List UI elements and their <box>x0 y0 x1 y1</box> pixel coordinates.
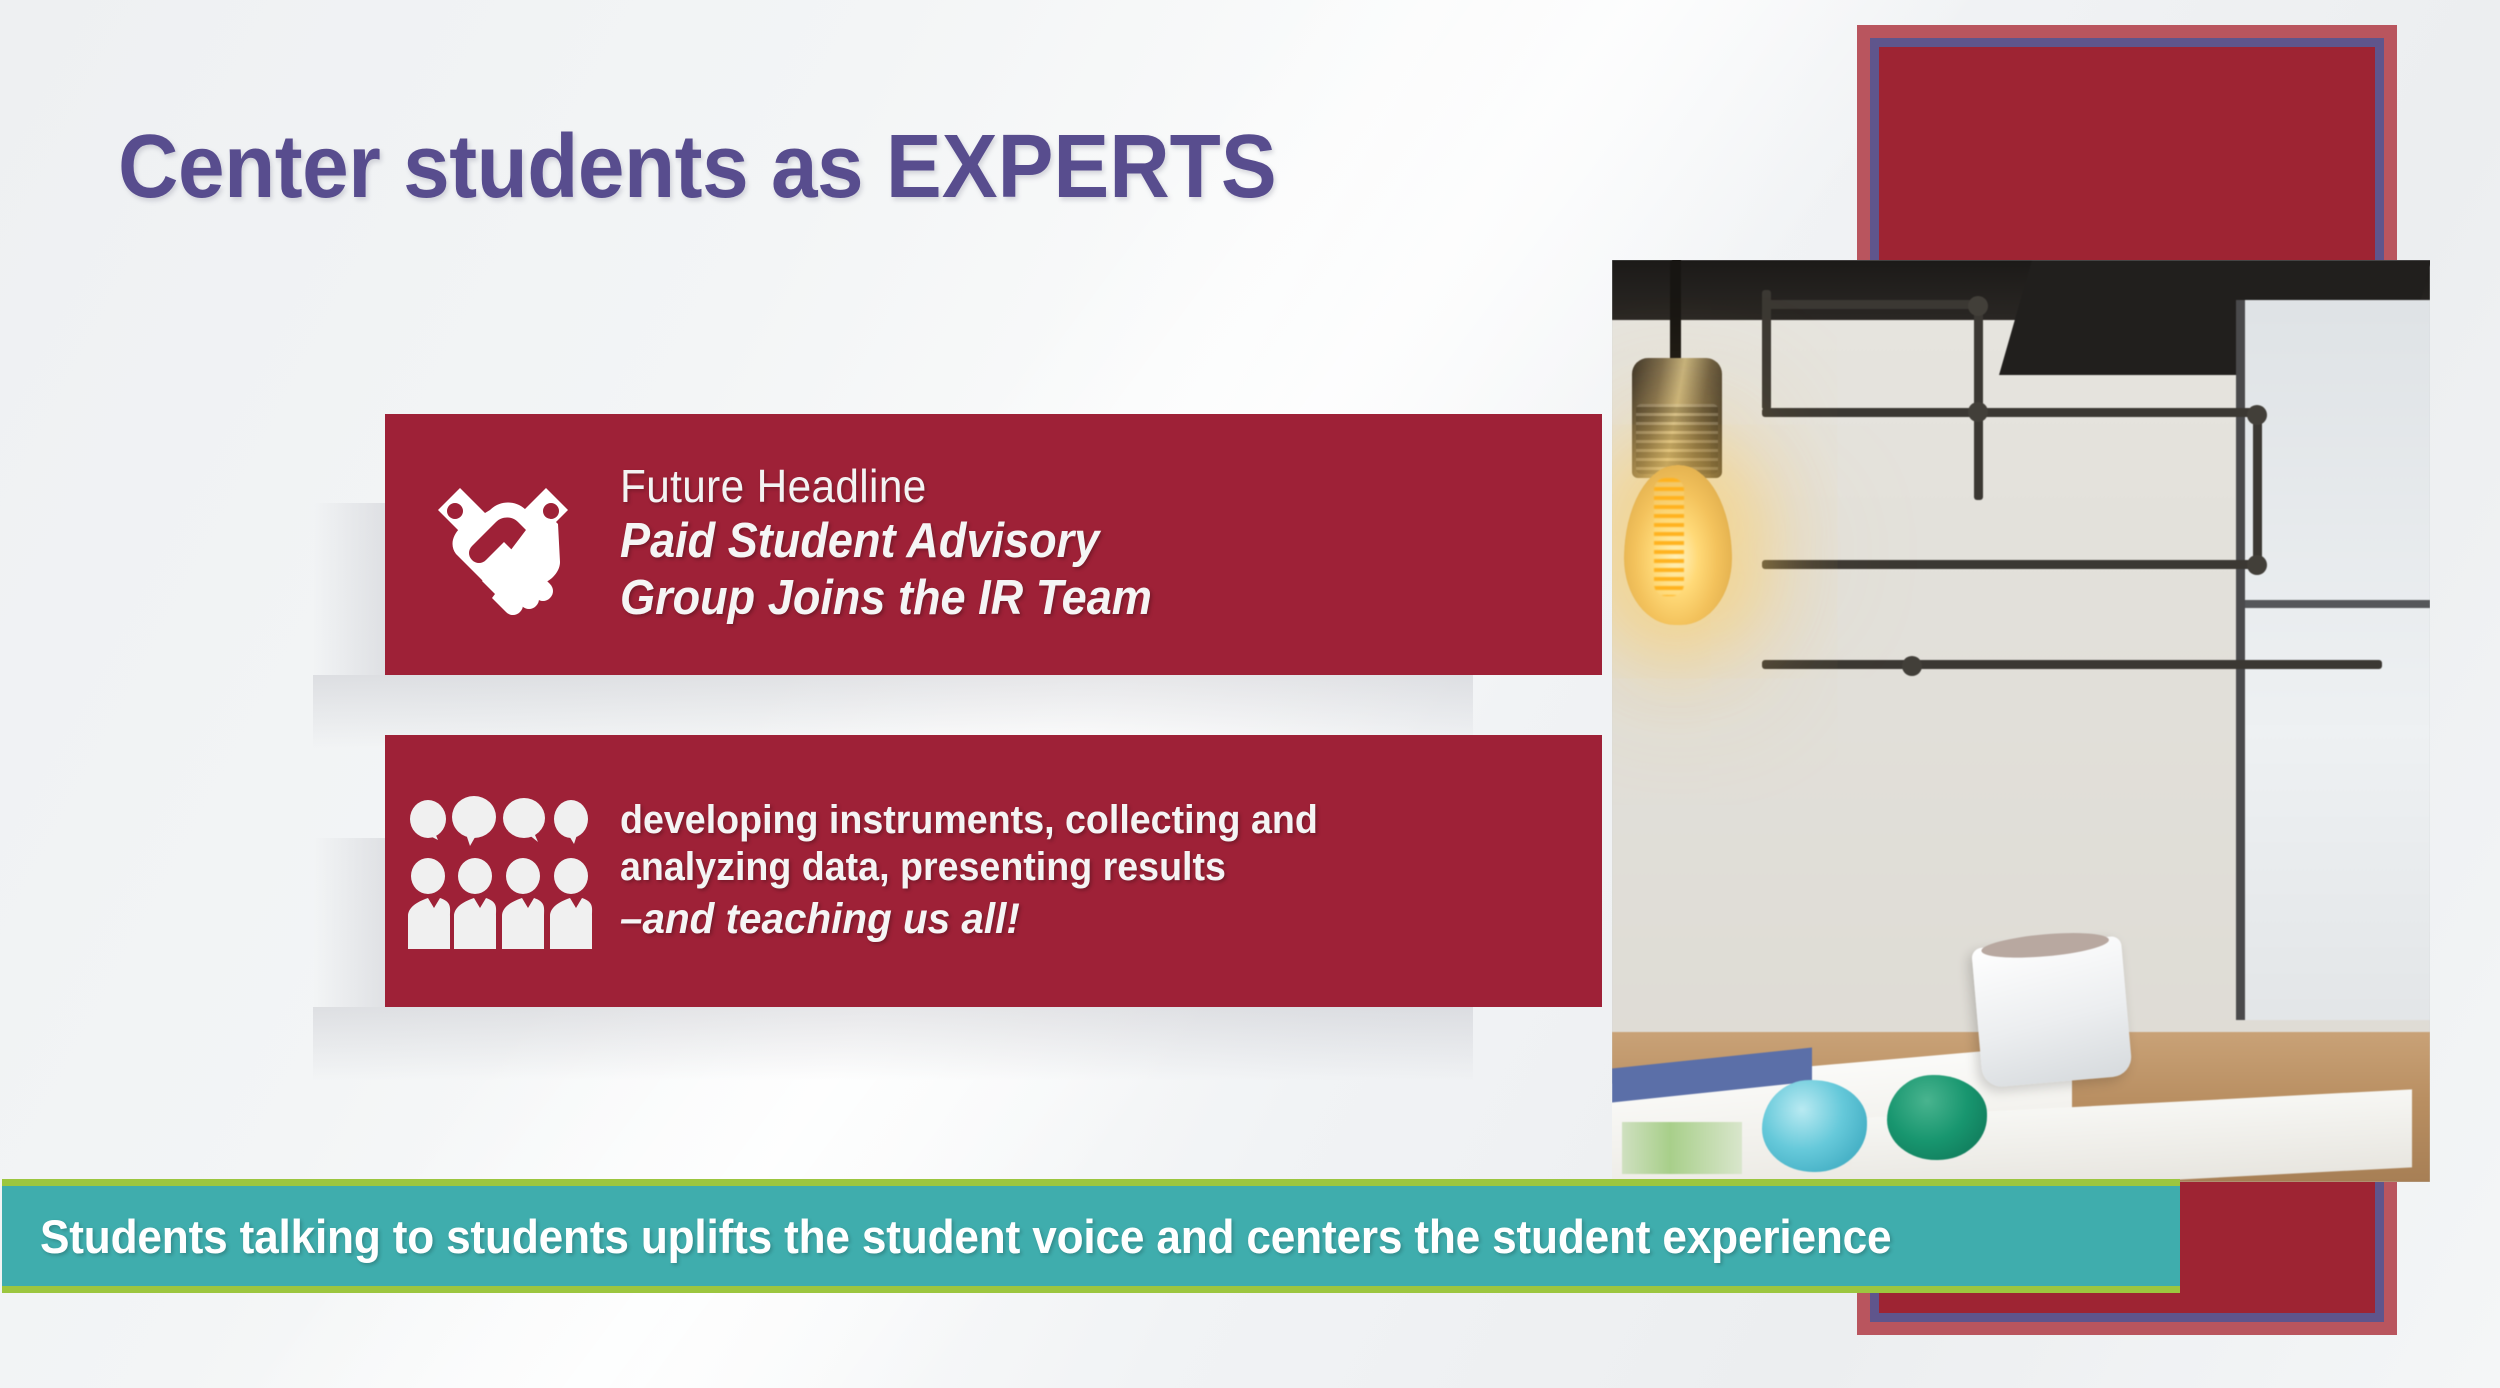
bulb-filament <box>1654 478 1684 596</box>
group-speaking-icon <box>385 794 620 949</box>
photo-pipe <box>1762 560 2262 569</box>
banner-text-block: developing instruments, collecting and a… <box>620 797 1602 945</box>
photo-pipe-joint <box>2247 555 2267 575</box>
banner-body-line3: –and teaching us all! <box>620 895 1543 945</box>
banner-shadow <box>313 1007 1473 1081</box>
banner-body-line1: developing instruments, collecting and <box>620 797 1543 844</box>
photo-pipe-joint <box>1902 656 1922 676</box>
photo-pipe <box>1762 300 1982 309</box>
photo-crumpled-paper-green <box>1887 1075 1987 1160</box>
bulb-cord <box>1670 260 1681 365</box>
banner-headline-line2: Group Joins the IR Team <box>620 571 1523 626</box>
photo-pipe <box>2253 410 2262 565</box>
photo-coffee-mug <box>1971 936 2133 1089</box>
photo-chart-printout <box>1622 1122 1742 1174</box>
photo-pipe <box>1762 660 2382 669</box>
footer-banner: Students talking to students uplifts the… <box>2 1179 2180 1293</box>
photo-pipe <box>1912 408 2262 417</box>
banner-student-work: developing instruments, collecting and a… <box>385 735 1602 1007</box>
banner-text-block: Future Headline Paid Student Advisory Gr… <box>620 462 1602 626</box>
handshake-icon <box>385 470 620 620</box>
page-title-plain: Center students as <box>118 117 886 217</box>
photo-pipe <box>1974 300 1983 500</box>
photo-pipe-joint <box>2247 405 2267 425</box>
team-collaboration-photo <box>1612 260 2430 1182</box>
bulb-socket <box>1632 358 1722 478</box>
photo-crumpled-paper-blue <box>1762 1080 1867 1172</box>
slide-canvas: Center students as EXPERTS <box>0 0 2500 1388</box>
photo-pipe-joint <box>1968 402 1988 422</box>
banner-shadow <box>313 503 389 675</box>
page-title: Center students as EXPERTS <box>118 120 1277 215</box>
banner-headline-line1: Paid Student Advisory <box>620 514 1523 569</box>
banner-body-line2: analyzing data, presenting results <box>620 844 1543 891</box>
photo-pipe-joint <box>1968 296 1988 316</box>
banner-future-headline: Future Headline Paid Student Advisory Gr… <box>385 414 1602 675</box>
page-title-emphasis: EXPERTS <box>886 117 1277 217</box>
banner-kicker: Future Headline <box>620 462 1523 512</box>
footer-banner-text: Students talking to students uplifts the… <box>40 1209 1891 1264</box>
banner-shadow <box>313 838 389 1007</box>
